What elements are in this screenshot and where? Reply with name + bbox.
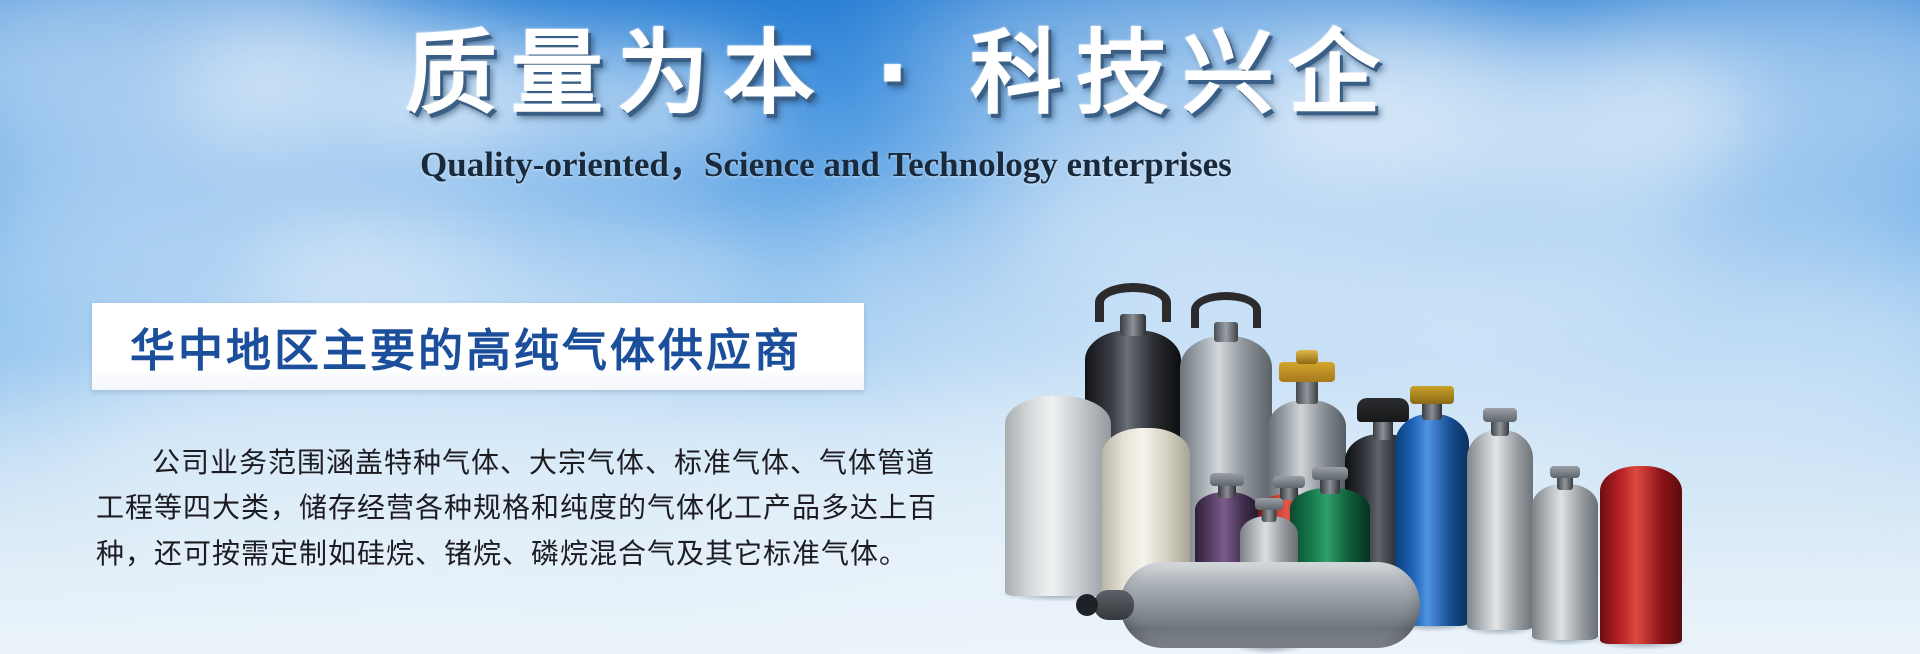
cylinder-handle-icon xyxy=(1191,292,1261,328)
cylinder-aluminium-2 xyxy=(1532,460,1598,640)
cylinder-valve-icon xyxy=(1410,386,1454,404)
tagline-text: 华中地区主要的高纯气体供应商 xyxy=(130,314,802,379)
description-paragraph: 公司业务范围涵盖特种气体、大宗气体、标准气体、气体管道 工程等四大类，储存经营各… xyxy=(96,440,896,576)
paragraph-line: 公司业务范围涵盖特种气体、大宗气体、标准气体、气体管道 xyxy=(96,440,896,485)
paragraph-line: 种，还可按需定制如硅烷、锗烷、磷烷混合气及其它标准气体。 xyxy=(96,531,896,576)
tagline-box: 华中地区主要的高纯气体供应商 xyxy=(92,303,864,390)
headline-english-subtitle: Quality-oriented，Science and Technology … xyxy=(420,136,1232,187)
cylinder-red-large xyxy=(1600,449,1682,644)
tank-lying-down xyxy=(1120,562,1420,648)
headline-chinese: 质量为本 · 科技兴企 xyxy=(405,26,1394,123)
cylinder-valve-knob-icon xyxy=(1296,350,1318,364)
cylinder-valve-icon xyxy=(1550,466,1580,478)
cylinder-aluminium xyxy=(1467,400,1533,630)
cylinder-valve-icon xyxy=(1210,473,1244,486)
tank-valve-icon xyxy=(1076,594,1098,616)
cylinder-handle-icon xyxy=(1095,283,1171,322)
paragraph-line: 工程等四大类，储存经营各种规格和纯度的气体化工产品多达上百 xyxy=(96,485,896,530)
cylinder-valve-icon xyxy=(1483,408,1517,422)
cylinder-valve-icon xyxy=(1255,498,1283,510)
cylinder-valve-icon xyxy=(1279,362,1335,382)
gas-cylinder-group xyxy=(1140,150,1920,654)
cylinder-valve-icon xyxy=(1312,467,1348,480)
tank-tip xyxy=(1094,590,1134,620)
cylinder-white-large xyxy=(1005,378,1111,596)
promotional-banner: 质量为本 · 科技兴企 Quality-oriented，Science and… xyxy=(0,0,1920,654)
